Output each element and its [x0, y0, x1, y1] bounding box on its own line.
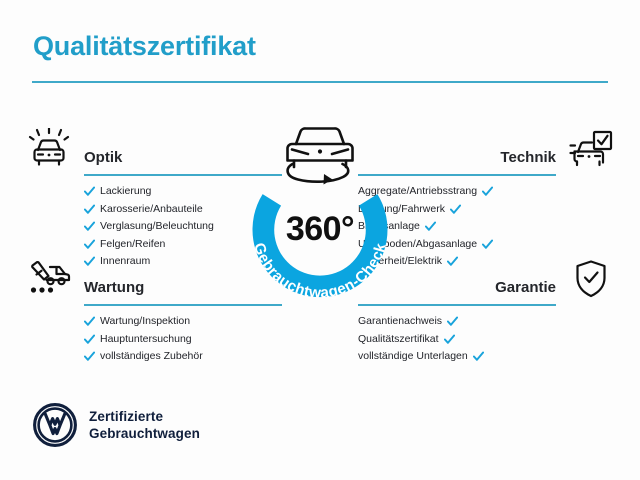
list-item: vollständige Unterlagen — [358, 348, 556, 366]
list-item-label: Felgen/Reifen — [100, 236, 165, 254]
badge-360-gebrauchtwagen-check: Gebrauchtwagen-Check 360° — [228, 118, 412, 308]
list-item: vollständiges Zubehör — [84, 348, 282, 366]
list-item-label: Hauptuntersuchung — [100, 331, 192, 349]
check-icon — [84, 204, 95, 215]
list-item-label: Garantienachweis — [358, 313, 442, 331]
section-garantie-list: Garantienachweis Qualitätszertifikat vol… — [358, 313, 556, 366]
check-icon — [425, 221, 436, 232]
check-icon — [84, 186, 95, 197]
badge-center-label: 360° — [286, 210, 354, 248]
check-icon — [444, 334, 455, 345]
list-item-label: Verglasung/Beleuchtung — [100, 218, 214, 236]
section-wartung-title: Wartung — [84, 279, 144, 296]
section-wartung-list: Wartung/Inspektion Hauptuntersuchung vol… — [84, 313, 282, 366]
check-icon — [84, 239, 95, 250]
vw-wordmark-line1: Zertifizierte — [89, 408, 200, 425]
section-optik-title: Optik — [84, 149, 122, 166]
list-item-label: Wartung/Inspektion — [100, 313, 190, 331]
check-icon — [482, 239, 493, 250]
page-title: Qualitätszertifikat — [33, 33, 256, 60]
check-icon — [482, 186, 493, 197]
list-item-label: Karosserie/Anbauteile — [100, 201, 203, 219]
vw-wordmark-line2: Gebrauchtwagen — [89, 425, 200, 442]
check-icon — [84, 351, 95, 362]
section-technik-title: Technik — [500, 149, 556, 166]
check-icon — [450, 204, 461, 215]
car-rotate-icon — [288, 128, 353, 184]
list-item-label: Qualitätszertifikat — [358, 331, 439, 349]
title-divider — [32, 81, 608, 83]
car-checkbox-icon — [568, 128, 614, 170]
list-item-label: Lackierung — [100, 183, 151, 201]
certificate-page: Qualitätszertifikat Optik — [0, 0, 640, 480]
vw-wordmark: Zertifizierte Gebrauchtwagen — [89, 408, 200, 442]
list-item-label: vollständiges Zubehör — [100, 348, 203, 366]
check-icon — [84, 221, 95, 232]
shield-check-icon — [568, 258, 614, 300]
vw-branding: Zertifizierte Gebrauchtwagen — [33, 403, 200, 447]
car-shine-icon — [26, 128, 72, 170]
list-item: Wartung/Inspektion — [84, 313, 282, 331]
list-item: Qualitätszertifikat — [358, 331, 556, 349]
list-item-label: vollständige Unterlagen — [358, 348, 468, 366]
list-item: Hauptuntersuchung — [84, 331, 282, 349]
check-icon — [84, 334, 95, 345]
check-icon — [84, 316, 95, 327]
vw-logo — [33, 403, 77, 447]
check-icon — [447, 316, 458, 327]
list-item: Garantienachweis — [358, 313, 556, 331]
check-icon — [473, 351, 484, 362]
section-garantie-title: Garantie — [495, 279, 556, 296]
car-service-tool-icon — [26, 258, 72, 300]
